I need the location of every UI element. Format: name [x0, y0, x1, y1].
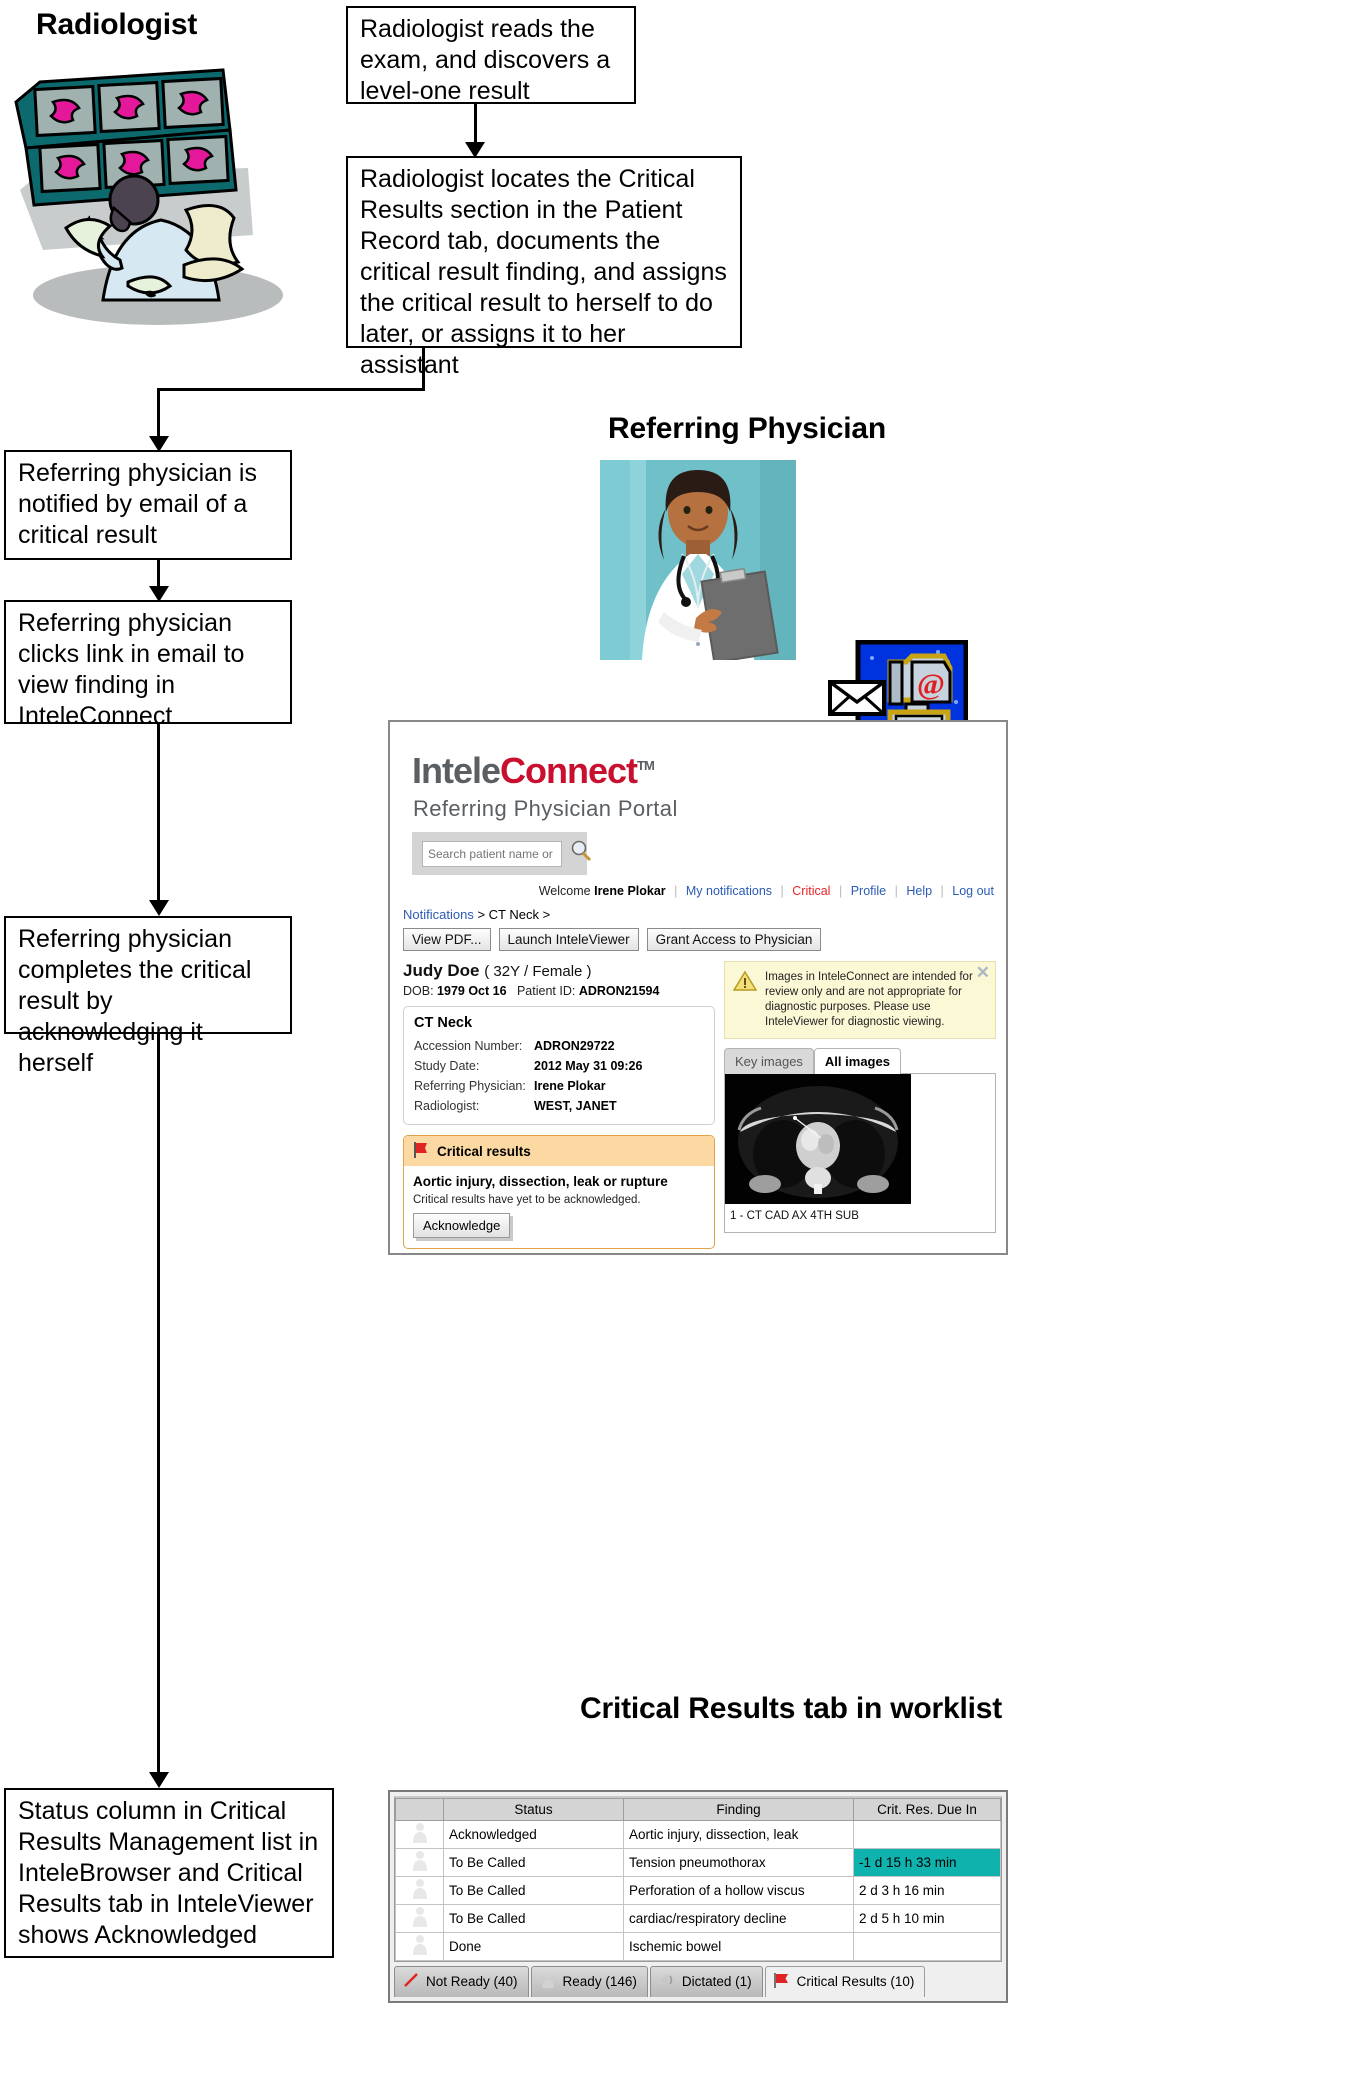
- images-column: Images in InteleConnect are intended for…: [724, 961, 996, 1249]
- table-row[interactable]: To Be Called Tension pneumothorax -1 d 1…: [396, 1849, 1001, 1877]
- cell-finding: Aortic injury, dissection, leak: [624, 1821, 854, 1849]
- cell-status: To Be Called: [444, 1849, 624, 1877]
- dob-label: DOB:: [403, 984, 434, 998]
- person-icon: [396, 1877, 444, 1905]
- critical-results-header: Critical results: [404, 1136, 714, 1166]
- critical-results-header-text: Critical results: [437, 1144, 531, 1159]
- nav-divider-4: |: [890, 884, 903, 898]
- study-row-radiologist: Radiologist: WEST, JANET: [414, 1096, 704, 1116]
- patient-dob-line: DOB: 1979 Oct 16 Patient ID: ADRON21594: [403, 984, 715, 998]
- cell-status: Done: [444, 1933, 624, 1961]
- image-caption: 1 - CT CAD AX 4TH SUB: [725, 1204, 995, 1232]
- critical-results-table: Status Finding Crit. Res. Due In Acknowl…: [395, 1798, 1001, 1961]
- accession-label: Accession Number:: [414, 1036, 534, 1056]
- worklist-tab-ready-label: Ready (146): [563, 1974, 637, 1989]
- welcome-username: Irene Plokar: [594, 884, 666, 898]
- worklist-tab-critical-results-label: Critical Results (10): [797, 1974, 915, 1989]
- study-card: CT Neck Accession Number: ADRON29722 Stu…: [403, 1006, 715, 1125]
- ct-scan-thumbnail[interactable]: [725, 1074, 911, 1204]
- patient-name: Judy Doe: [403, 961, 480, 980]
- flow-step-2-box: Radiologist locates the Critical Results…: [346, 156, 742, 348]
- table-row[interactable]: Done Ischemic bowel: [396, 1933, 1001, 1961]
- cell-due: 2 d 5 h 10 min: [854, 1905, 1001, 1933]
- person-icon: [396, 1849, 444, 1877]
- person-icon: [396, 1821, 444, 1849]
- search-input[interactable]: [422, 841, 562, 867]
- red-flag-icon: [413, 1141, 430, 1161]
- referring-physician-label: Referring Physician:: [414, 1076, 534, 1096]
- radiologist-value: WEST, JANET: [534, 1096, 617, 1116]
- worklist-panel: Status Finding Crit. Res. Due In Acknowl…: [388, 1790, 1008, 2003]
- worklist-tab-not-ready-label: Not Ready (40): [426, 1974, 518, 1989]
- worklist-tab-not-ready[interactable]: Not Ready (40): [394, 1966, 529, 1997]
- search-bar: [412, 832, 587, 875]
- referring-physician-value: Irene Plokar: [534, 1076, 606, 1096]
- nav-divider-5: |: [936, 884, 949, 898]
- nav-divider-3: |: [834, 884, 847, 898]
- table-body: Acknowledged Aortic injury, dissection, …: [396, 1821, 1001, 1961]
- view-pdf-button[interactable]: View PDF...: [403, 928, 491, 951]
- breadcrumb-current: CT Neck: [489, 907, 539, 922]
- flow-step-5-box: Referring physician completes the critic…: [4, 916, 292, 1034]
- cell-finding: Tension pneumothorax: [624, 1849, 854, 1877]
- critical-results-body: Aortic injury, dissection, leak or ruptu…: [404, 1166, 714, 1248]
- patient-name-line: Judy Doe ( 32Y / Female ): [403, 961, 715, 981]
- red-slash-icon: [402, 1972, 420, 1991]
- study-date-label: Study Date:: [414, 1056, 534, 1076]
- cell-due: [854, 1821, 1001, 1849]
- breadcrumb: Notifications > CT Neck >: [390, 898, 1006, 922]
- connector-2-3-vline-a: [422, 348, 425, 390]
- referring-physician-heading: Referring Physician: [608, 412, 886, 446]
- flow-step-1-box: Radiologist reads the exam, and discover…: [346, 6, 636, 104]
- cell-due-overdue: -1 d 15 h 33 min: [854, 1849, 1001, 1877]
- study-row-date: Study Date: 2012 May 31 09:26: [414, 1056, 704, 1076]
- flow-step-2-text: Radiologist locates the Critical Results…: [360, 165, 727, 379]
- person-icon: [396, 1933, 444, 1961]
- patient-demographics: ( 32Y / Female ): [484, 963, 591, 980]
- inteleconnect-panel: InteleConnectTM Referring Physician Port…: [388, 720, 1008, 1255]
- tab-all-images[interactable]: All images: [814, 1048, 901, 1074]
- worklist-tab-bar: Not Ready (40) Ready (146) Dictated (1) …: [394, 1966, 1002, 1997]
- study-date-value: 2012 May 31 09:26: [534, 1056, 642, 1076]
- cell-finding: cardiac/respiratory decline: [624, 1905, 854, 1933]
- portal-subtitle: Referring Physician Portal: [390, 792, 1006, 822]
- breadcrumb-sep-1: >: [477, 907, 485, 922]
- table-row[interactable]: To Be Called cardiac/respiratory decline…: [396, 1905, 1001, 1933]
- flow-step-3-text: Referring physician is notified by email…: [18, 459, 257, 549]
- flow-step-6-box: Status column in Critical Results Manage…: [4, 1788, 334, 1958]
- radiologist-illustration: [8, 60, 308, 335]
- nav-link-my-notifications[interactable]: My notifications: [686, 884, 772, 898]
- connector-2-3-hline: [157, 388, 425, 391]
- worklist-table-frame: Status Finding Crit. Res. Due In Acknowl…: [394, 1796, 1002, 1962]
- connector-4-5-line: [157, 724, 160, 904]
- red-flag-icon: [773, 1972, 791, 1991]
- nav-divider-2: |: [776, 884, 789, 898]
- radiologist-label: Radiologist:: [414, 1096, 534, 1116]
- flow-step-4-box: Referring physician clicks link in email…: [4, 600, 292, 724]
- cell-due: [854, 1933, 1001, 1961]
- patient-id-label: Patient ID:: [517, 984, 575, 998]
- svg-text:@: @: [917, 668, 945, 701]
- cell-status: To Be Called: [444, 1877, 624, 1905]
- cell-status: To Be Called: [444, 1905, 624, 1933]
- breadcrumb-notifications[interactable]: Notifications: [403, 907, 474, 922]
- cell-finding: Ischemic bowel: [624, 1933, 854, 1961]
- flow-step-3-box: Referring physician is notified by email…: [4, 450, 292, 560]
- image-tab-bar: Key images All images: [724, 1048, 996, 1074]
- study-row-accession: Accession Number: ADRON29722: [414, 1036, 704, 1056]
- grant-access-button[interactable]: Grant Access to Physician: [647, 928, 822, 951]
- worklist-heading: Critical Results tab in worklist: [580, 1692, 1002, 1726]
- connector-1-2-line: [474, 104, 477, 144]
- user-nav-bar: Welcome Irene Plokar | My notifications …: [390, 875, 1006, 898]
- diagnostic-warning-text: Images in InteleConnect are intended for…: [765, 970, 975, 1030]
- tab-key-images[interactable]: Key images: [724, 1048, 814, 1074]
- image-frame: 1 - CT CAD AX 4TH SUB: [724, 1073, 996, 1233]
- connector-5-6-arrow: [149, 1772, 169, 1788]
- acknowledge-button[interactable]: Acknowledge: [413, 1213, 510, 1238]
- sound-icon: [658, 1972, 676, 1991]
- nav-divider-1: |: [669, 884, 682, 898]
- worklist-tab-dictated[interactable]: Dictated (1): [650, 1966, 763, 1997]
- worklist-tab-critical-results[interactable]: Critical Results (10): [765, 1966, 926, 1997]
- connector-2-3-vline-b: [157, 388, 160, 438]
- connector-4-5-arrow: [149, 900, 169, 916]
- worklist-tab-dictated-label: Dictated (1): [682, 1974, 752, 1989]
- physician-photo: [600, 460, 796, 660]
- logo-text-connect: Connect: [500, 750, 637, 791]
- flow-step-4-text: Referring physician clicks link in email…: [18, 609, 244, 730]
- table-row[interactable]: Acknowledged Aortic injury, dissection, …: [396, 1821, 1001, 1849]
- diagnostic-warning-banner: Images in InteleConnect are intended for…: [724, 961, 996, 1039]
- study-row-refphys: Referring Physician: Irene Plokar: [414, 1076, 704, 1096]
- flow-step-1-text: Radiologist reads the exam, and discover…: [360, 15, 610, 105]
- critical-status-text: Critical results have yet to be acknowle…: [413, 1194, 705, 1206]
- close-icon[interactable]: ✕: [976, 964, 990, 981]
- col-header-finding[interactable]: Finding: [624, 1799, 854, 1821]
- radiologist-heading: Radiologist: [36, 8, 197, 42]
- warning-triangle-icon: [733, 970, 757, 1030]
- accession-value: ADRON29722: [534, 1036, 615, 1056]
- welcome-prefix: Welcome: [539, 884, 591, 898]
- logo-text-intele: Intele: [412, 750, 500, 791]
- nav-link-profile[interactable]: Profile: [851, 884, 886, 898]
- col-header-status[interactable]: Status: [444, 1799, 624, 1821]
- cell-status: Acknowledged: [444, 1821, 624, 1849]
- table-row[interactable]: To Be Called Perforation of a hollow vis…: [396, 1877, 1001, 1905]
- worklist-tab-ready[interactable]: Ready (146): [531, 1966, 648, 1997]
- nav-link-log-out[interactable]: Log out: [952, 884, 994, 898]
- study-title: CT Neck: [414, 1015, 704, 1031]
- action-button-row: View PDF... Launch InteleViewer Grant Ac…: [390, 922, 1006, 951]
- flow-step-5-text: Referring physician completes the critic…: [18, 925, 251, 1077]
- cell-finding: Perforation of a hollow viscus: [624, 1877, 854, 1905]
- patient-column: Judy Doe ( 32Y / Female ) DOB: 1979 Oct …: [403, 961, 715, 1249]
- magnifier-icon[interactable]: [570, 840, 592, 867]
- nav-link-critical[interactable]: Critical: [792, 884, 830, 898]
- dob-value: 1979 Oct 16: [437, 984, 507, 998]
- patient-id-value: ADRON21594: [579, 984, 660, 998]
- col-header-icon[interactable]: [396, 1799, 444, 1821]
- col-header-due-in[interactable]: Crit. Res. Due In: [854, 1799, 1001, 1821]
- breadcrumb-sep-2: >: [543, 907, 551, 922]
- logo-trademark: TM: [637, 758, 654, 773]
- launch-inteleviewer-button[interactable]: Launch InteleViewer: [499, 928, 639, 951]
- cell-due: 2 d 3 h 16 min: [854, 1877, 1001, 1905]
- nav-link-help[interactable]: Help: [906, 884, 932, 898]
- inteleconnect-logo: InteleConnectTM: [390, 722, 1006, 792]
- table-header-row: Status Finding Crit. Res. Due In: [396, 1799, 1001, 1821]
- critical-finding-text: Aortic injury, dissection, leak or ruptu…: [413, 1174, 705, 1189]
- person-icon: [396, 1905, 444, 1933]
- person-icon: [539, 1972, 557, 1991]
- flow-step-6-text: Status column in Critical Results Manage…: [18, 1797, 318, 1949]
- critical-results-card: Critical results Aortic injury, dissecti…: [403, 1135, 715, 1249]
- connector-5-6-line: [157, 1034, 160, 1774]
